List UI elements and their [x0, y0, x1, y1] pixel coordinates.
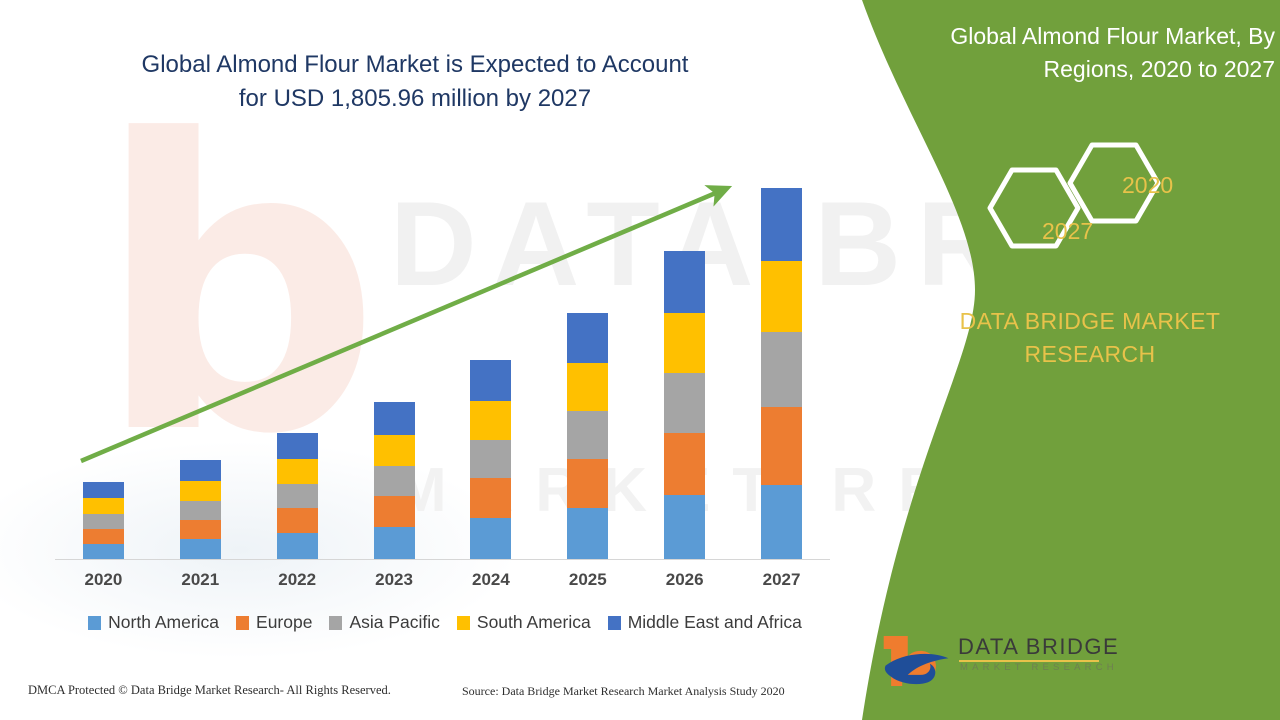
legend-item[interactable]: South America: [457, 612, 591, 633]
panel-brand-line2: RESEARCH: [920, 338, 1260, 371]
bar-segment: [277, 533, 318, 560]
chart-plot-area: [55, 150, 830, 560]
logo-b-icon: [880, 632, 954, 690]
bar-segment: [83, 498, 124, 514]
bar-segment: [470, 478, 511, 518]
bar-segment: [761, 332, 802, 407]
bar-segment: [567, 363, 608, 411]
legend-item[interactable]: Asia Pacific: [329, 612, 439, 633]
logo-tagline: MARKET RESEARCH: [960, 662, 1118, 673]
bar-segment: [374, 402, 415, 435]
bar-segment: [664, 313, 705, 373]
bar-segment: [470, 440, 511, 478]
panel-title-line2: Regions, 2020 to 2027: [915, 53, 1275, 86]
legend-swatch-icon: [236, 616, 249, 630]
bar-2022[interactable]: [277, 433, 318, 560]
bar-segment: [277, 433, 318, 459]
panel-content: Global Almond Flour Market, By Regions, …: [900, 0, 1280, 720]
bar-2020[interactable]: [83, 482, 124, 560]
hexagon-2020-label: 2020: [1122, 172, 1173, 199]
bar-2026[interactable]: [664, 251, 705, 560]
panel-brand-line1: DATA BRIDGE MARKET: [920, 305, 1260, 338]
x-axis-labels: 20202021202220232024202520262027: [55, 565, 830, 595]
bar-segment: [761, 485, 802, 560]
logo-name: DATA BRIDGE: [958, 634, 1119, 660]
x-axis-label-2020: 2020: [68, 570, 138, 590]
bar-segment: [374, 496, 415, 527]
bar-segment: [567, 411, 608, 459]
bar-segment: [180, 460, 221, 481]
bar-segment: [664, 433, 705, 495]
x-axis-label-2024: 2024: [456, 570, 526, 590]
bar-segment: [180, 520, 221, 539]
chart-legend: North AmericaEuropeAsia PacificSouth Ame…: [55, 612, 835, 633]
hexagon-outlines: [970, 128, 1220, 288]
bar-segment: [374, 466, 415, 496]
legend-item[interactable]: Europe: [236, 612, 312, 633]
x-axis-line: [55, 559, 830, 560]
page-title-line1: Global Almond Flour Market is Expected t…: [60, 48, 770, 82]
legend-swatch-icon: [608, 616, 621, 630]
bar-segment: [83, 529, 124, 544]
bar-segment: [277, 484, 318, 508]
bar-2024[interactable]: [470, 360, 511, 560]
bar-2021[interactable]: [180, 460, 221, 560]
panel-title-line1: Global Almond Flour Market, By: [915, 20, 1275, 53]
bar-segment: [664, 373, 705, 433]
bar-segment: [277, 508, 318, 533]
bar-segment: [664, 495, 705, 560]
infographic-root: b DATA BRIDGE MARKET RESEARCH Global Alm…: [0, 0, 1280, 720]
bar-segment: [180, 481, 221, 501]
legend-label: North America: [108, 612, 219, 633]
x-axis-label-2021: 2021: [165, 570, 235, 590]
legend-swatch-icon: [88, 616, 101, 630]
bar-segment: [180, 501, 221, 520]
bar-segment: [277, 459, 318, 484]
x-axis-label-2022: 2022: [262, 570, 332, 590]
bar-segment: [470, 518, 511, 560]
hexagon-2027-label: 2027: [1042, 218, 1093, 245]
bar-segment: [664, 251, 705, 313]
bar-segment: [83, 482, 124, 498]
bar-segment: [761, 407, 802, 485]
legend-label: Middle East and Africa: [628, 612, 802, 633]
bar-segment: [83, 514, 124, 529]
x-axis-label-2025: 2025: [553, 570, 623, 590]
footer-source: Source: Data Bridge Market Research Mark…: [462, 684, 785, 699]
page-title: Global Almond Flour Market is Expected t…: [60, 48, 770, 116]
bar-2023[interactable]: [374, 402, 415, 560]
x-axis-label-2026: 2026: [650, 570, 720, 590]
legend-item[interactable]: Middle East and Africa: [608, 612, 802, 633]
legend-label: Europe: [256, 612, 312, 633]
bar-segment: [470, 360, 511, 401]
panel-title: Global Almond Flour Market, By Regions, …: [915, 20, 1275, 86]
legend-swatch-icon: [457, 616, 470, 630]
legend-swatch-icon: [329, 616, 342, 630]
data-bridge-logo: DATA BRIDGE MARKET RESEARCH: [880, 630, 1120, 700]
bar-segment: [567, 508, 608, 560]
bar-segment: [374, 527, 415, 560]
bar-segment: [567, 313, 608, 363]
bar-segment: [180, 539, 221, 560]
legend-item[interactable]: North America: [88, 612, 219, 633]
bar-segment: [374, 435, 415, 466]
bar-segment: [83, 544, 124, 560]
legend-label: South America: [477, 612, 591, 633]
panel-brand: DATA BRIDGE MARKET RESEARCH: [920, 305, 1260, 371]
legend-label: Asia Pacific: [349, 612, 439, 633]
bar-group: [55, 150, 830, 560]
footer-copyright: DMCA Protected © Data Bridge Market Rese…: [28, 683, 391, 698]
page-title-line2: for USD 1,805.96 million by 2027: [60, 82, 770, 116]
bar-2025[interactable]: [567, 313, 608, 560]
bar-segment: [470, 401, 511, 440]
x-axis-label-2023: 2023: [359, 570, 429, 590]
bar-segment: [761, 188, 802, 261]
bar-segment: [761, 261, 802, 332]
hexagon-pair: 2020 2027: [970, 128, 1220, 288]
x-axis-label-2027: 2027: [747, 570, 817, 590]
bar-2027[interactable]: [761, 188, 802, 560]
bar-segment: [567, 459, 608, 508]
